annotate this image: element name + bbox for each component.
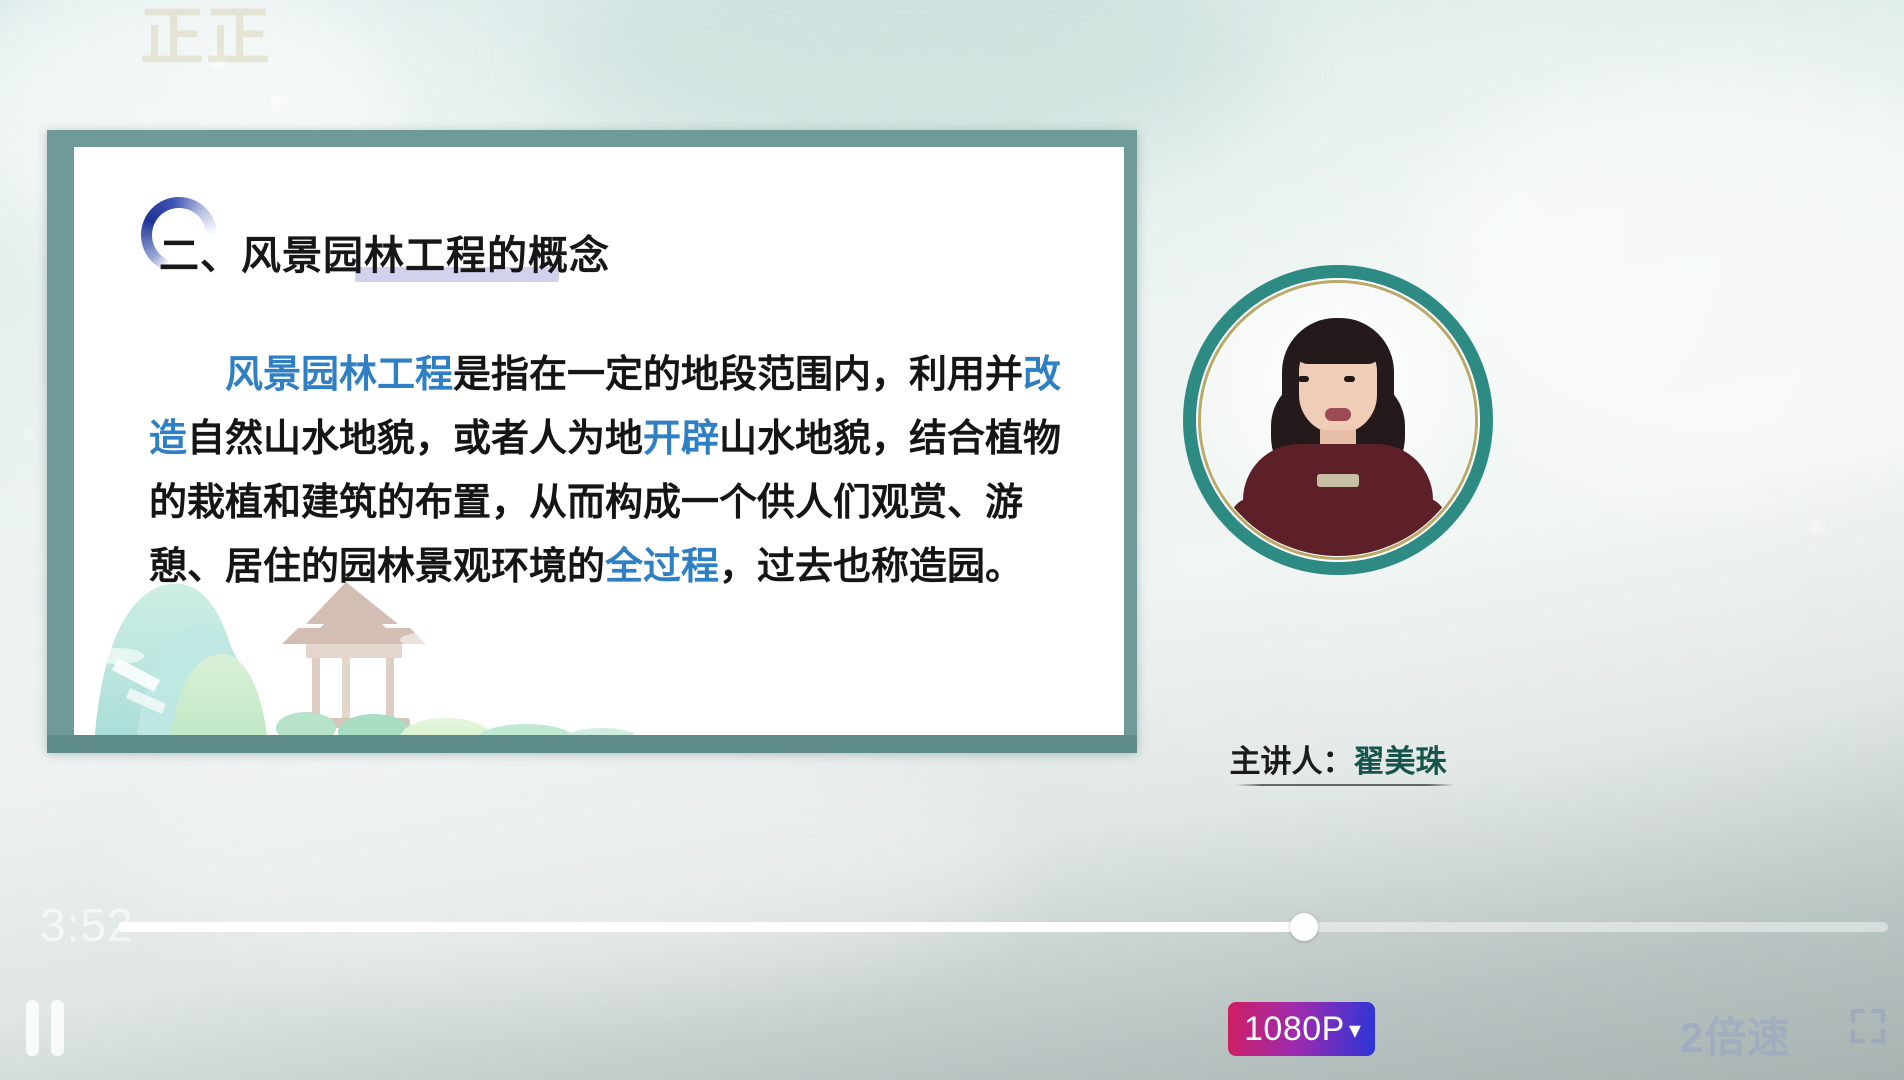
progress-bar-fill (118, 922, 1304, 932)
background-bokeh-dot (1810, 520, 1824, 534)
playback-speed-button[interactable]: 2倍速 (1680, 1004, 1790, 1065)
video-player[interactable]: 正正 二、风景园林工程的概念 风景园林工程是指在一定的地段范围内，利用并改造自然… (0, 0, 1904, 1080)
fullscreen-icon[interactable] (1848, 1006, 1888, 1046)
presenter-lapel-badge (1317, 474, 1359, 487)
presenter-eye-right (1344, 376, 1355, 382)
body-plain-text: ，过去也称造园。 (719, 546, 1023, 588)
body-plain-text: 是指在一定的地段范围内，利用并 (453, 354, 1023, 396)
chevron-down-icon: ▾ (1349, 1019, 1362, 1043)
pause-bar-right (51, 1000, 64, 1056)
presenter-name-block: 主讲人：翟美珠 (1183, 736, 1493, 781)
quality-selector-button[interactable]: 1080P ▾ (1228, 1002, 1375, 1056)
background-blur-shape (1424, 60, 1904, 480)
presenter-name-underline (1236, 784, 1454, 786)
presenter-eye-left (1298, 376, 1309, 382)
body-highlight-text: 全过程 (605, 546, 719, 588)
presenter-fringe (1295, 330, 1381, 364)
presenter-video-bubble (1183, 265, 1493, 575)
pause-icon[interactable] (26, 1000, 70, 1056)
body-highlight-text: 开辟 (643, 418, 719, 460)
quality-label: 1080P (1244, 1010, 1345, 1049)
channel-watermark: 正正 (140, 0, 272, 78)
slide-title-block: 二、风景园林工程的概念 (159, 221, 610, 291)
slide-title: 二、风景园林工程的概念 (159, 234, 610, 278)
progress-bar-track[interactable] (118, 922, 1888, 932)
presenter-name-value: 翟美珠 (1354, 744, 1447, 779)
presenter-mouth (1325, 408, 1351, 421)
slide-frame-base (47, 735, 1137, 753)
body-plain-text: 自然山水地貌，或者人为地 (187, 418, 643, 460)
progress-bar-handle[interactable] (1290, 913, 1318, 941)
slide-body-paragraph: 风景园林工程是指在一定的地段范围内，利用并改造自然山水地貌，或者人为地开辟山水地… (149, 343, 1069, 599)
slide-frame: 二、风景园林工程的概念 风景园林工程是指在一定的地段范围内，利用并改造自然山水地… (47, 130, 1137, 752)
presenter-arm-left (1230, 498, 1274, 556)
body-highlight-text: 风景园林工程 (225, 354, 453, 396)
slide-content: 二、风景园林工程的概念 风景园林工程是指在一定的地段范围内，利用并改造自然山水地… (74, 147, 1124, 747)
pause-bar-left (26, 1000, 39, 1056)
presenter-arm-right (1402, 498, 1446, 556)
presenter-avatar (1202, 284, 1474, 556)
background-blur-shape (120, 730, 1020, 990)
background-bokeh-dot (24, 430, 33, 439)
presenter-name-label: 主讲人： (1230, 744, 1354, 779)
background-bokeh-dot (272, 96, 282, 106)
